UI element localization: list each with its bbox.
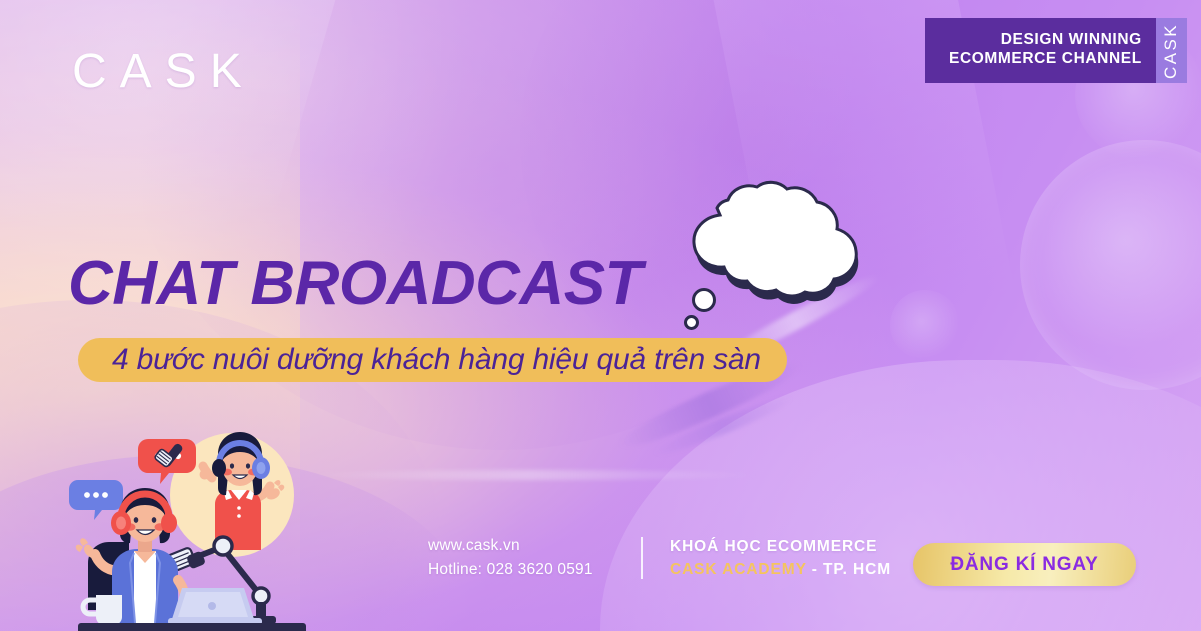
streak-4 — [300, 470, 760, 480]
subtitle-text: 4 bước nuôi dưỡng khách hàng hiệu quả tr… — [112, 343, 761, 377]
academy-location: - TP. HCM — [807, 561, 892, 578]
footer-divider — [641, 537, 643, 579]
badge-side-label: CASK — [1161, 23, 1181, 79]
academy-name: CASK ACADEMY — [670, 561, 807, 578]
desk-surface — [78, 623, 306, 631]
badge-side-strip: CASK — [1156, 18, 1187, 83]
thought-bubble-dot-small — [684, 315, 699, 330]
badge-line-2: ECOMMERCE CHANNEL — [949, 50, 1142, 69]
course-info: KHOÁ HỌC ECOMMERCE CASK ACADEMY - TP. HC… — [670, 536, 891, 582]
register-button[interactable]: ĐĂNG KÍ NGAY — [913, 543, 1136, 586]
course-title: KHOÁ HỌC ECOMMERCE — [670, 536, 891, 559]
register-button-label: ĐĂNG KÍ NGAY — [950, 554, 1098, 576]
badge-line-1: DESIGN WINNING — [1001, 31, 1142, 50]
bokeh-circle-tiny — [890, 290, 960, 360]
course-provider: CASK ACADEMY - TP. HCM — [670, 559, 891, 582]
streak-2 — [650, 390, 795, 461]
design-winning-badge: DESIGN WINNING ECOMMERCE CHANNEL CASK — [925, 18, 1187, 83]
contact-info: www.cask.vn Hotline: 028 3620 0591 — [428, 534, 593, 582]
promo-banner: CASK DESIGN WINNING ECOMMERCE CHANNEL CA… — [0, 0, 1201, 631]
website-text[interactable]: www.cask.vn — [428, 534, 593, 558]
page-title: CHAT BROADCAST — [68, 253, 642, 315]
badge-text-block: DESIGN WINNING ECOMMERCE CHANNEL — [925, 18, 1156, 83]
thought-bubble-dot-large — [692, 288, 716, 312]
hotline-text: Hotline: 028 3620 0591 — [428, 558, 593, 582]
podcast-illustration — [60, 420, 320, 631]
bokeh-circle-large — [1020, 140, 1201, 390]
subtitle-bar: 4 bước nuôi dưỡng khách hàng hiệu quả tr… — [78, 338, 787, 382]
cask-logo: CASK — [72, 48, 255, 96]
